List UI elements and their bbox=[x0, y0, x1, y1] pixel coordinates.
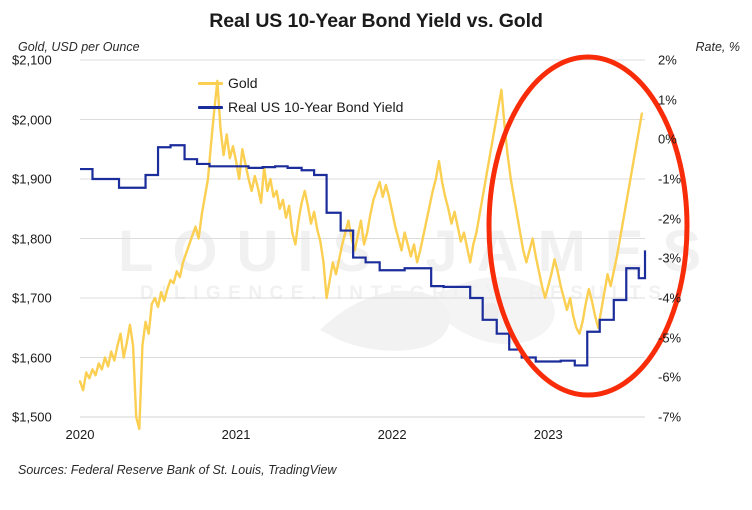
y-tick-left: $1,800 bbox=[12, 231, 80, 246]
x-tick: 2020 bbox=[66, 427, 95, 442]
y-tick-right: -6% bbox=[658, 370, 724, 385]
y-tick-right: -1% bbox=[658, 172, 724, 187]
y-tick-right: -2% bbox=[658, 211, 724, 226]
series-gold-line bbox=[80, 81, 642, 429]
legend-label-gold: Gold bbox=[228, 75, 258, 91]
x-tick: 2022 bbox=[378, 427, 407, 442]
y-tick-right: -4% bbox=[658, 291, 724, 306]
x-tick: 2021 bbox=[222, 427, 251, 442]
y-tick-right: -3% bbox=[658, 251, 724, 266]
y-tick-right: -7% bbox=[658, 410, 724, 425]
legend: Gold Real US 10-Year Bond Yield bbox=[198, 72, 403, 120]
legend-item-yield[interactable]: Real US 10-Year Bond Yield bbox=[198, 96, 403, 118]
y-tick-right: 2% bbox=[658, 53, 724, 68]
y-tick-right: 1% bbox=[658, 92, 724, 107]
sources-note: Sources: Federal Reserve Bank of St. Lou… bbox=[18, 463, 336, 477]
y-tick-left: $2,100 bbox=[12, 53, 80, 68]
y-tick-left: $1,900 bbox=[12, 172, 80, 187]
legend-label-yield: Real US 10-Year Bond Yield bbox=[228, 99, 403, 115]
y-tick-right: 0% bbox=[658, 132, 724, 147]
y-tick-left: $1,600 bbox=[12, 350, 80, 365]
y-tick-left: $1,700 bbox=[12, 291, 80, 306]
series-yield-line bbox=[80, 145, 645, 365]
y-tick-right: -5% bbox=[658, 330, 724, 345]
legend-item-gold[interactable]: Gold bbox=[198, 72, 403, 94]
y-tick-left: $2,000 bbox=[12, 112, 80, 127]
x-tick: 2023 bbox=[534, 427, 563, 442]
y-tick-left: $1,500 bbox=[12, 410, 80, 425]
chart-root: LOUIS JAMES DILIGENCE. INTEGRITY. RESULT… bbox=[0, 0, 752, 510]
legend-swatch-yield bbox=[198, 106, 223, 109]
legend-swatch-gold bbox=[198, 82, 223, 85]
